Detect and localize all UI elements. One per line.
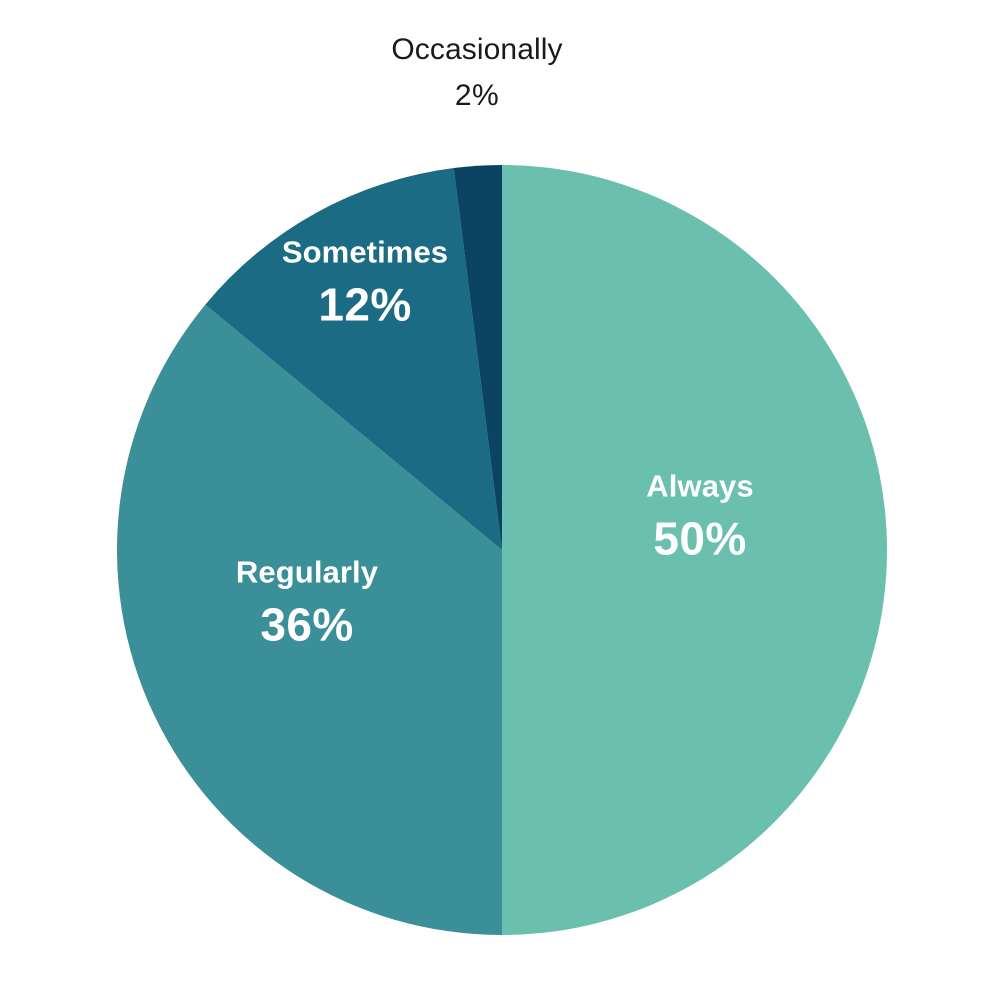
- pie-slice-always[interactable]: [502, 165, 887, 935]
- pie-chart: Always 50% Regularly 36% Sometimes 12% O…: [0, 0, 1000, 1000]
- pie-slice-group: [117, 165, 887, 935]
- pie-chart-canvas: [0, 0, 1000, 1000]
